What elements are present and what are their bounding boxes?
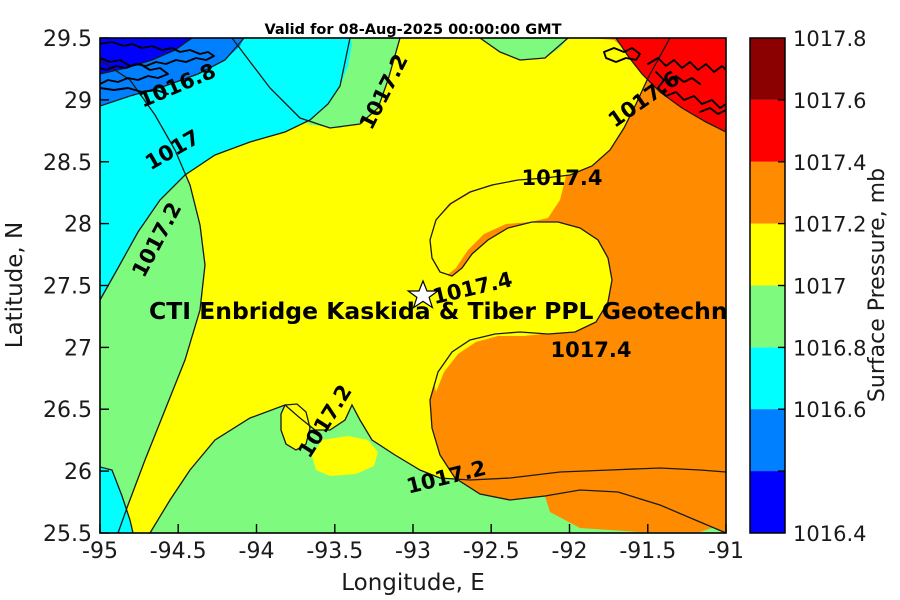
y-tick-label: 29.5 [43, 27, 92, 52]
colorbar-band-1017.4-1017.6 [750, 100, 785, 162]
x-tick-label: -93.5 [306, 539, 363, 564]
x-tick-label: -93 [395, 539, 431, 564]
x-tick-label: -92.5 [463, 539, 520, 564]
y-tick-label: 28.5 [43, 151, 92, 176]
y-tick-label: 27 [64, 336, 92, 361]
colorbar-tick-label: 1017.4 [793, 151, 866, 175]
figure-root: Valid for 08-Aug-2025 00:00:00 GMT [0, 0, 900, 600]
y-tick-label: 26 [64, 460, 92, 485]
x-tick-label: -91.5 [619, 539, 676, 564]
colorbar-tick-label: 1016.6 [793, 398, 866, 422]
plot-title: Valid for 08-Aug-2025 00:00:00 GMT [265, 22, 562, 38]
colorbar-tick-label: 1017.6 [793, 89, 866, 113]
y-tick-label: 27.5 [43, 275, 92, 300]
colorbar-band-1016.6-1016.8 [750, 347, 785, 409]
x-axis-label: Longitude, E [341, 570, 485, 596]
station-label: CTI Enbridge Kaskida & Tiber PPL Geotech… [149, 297, 774, 325]
colorbar-band-1016.4-1016.6 [750, 409, 785, 471]
x-tick-label: -91 [708, 539, 744, 564]
colorbar-tick-label: 1017.2 [793, 213, 866, 237]
contour-label: 1017.4 [550, 338, 631, 362]
colorbar-label: Surface Pressure, mb [865, 168, 890, 402]
contour-label: 1017.4 [521, 166, 602, 190]
x-tick-label: -94 [239, 539, 275, 564]
y-axis-label: Latitude, N [2, 222, 28, 349]
colorbar-tick-label: 1017.8 [793, 27, 866, 51]
x-tick-label: -94.5 [150, 539, 207, 564]
colorbar-band-1017.0-1017.2 [750, 224, 785, 286]
y-tick-label: 29 [64, 89, 92, 114]
y-tick-label: 25.5 [43, 522, 92, 547]
colorbar-tick-label: 1017 [793, 275, 846, 299]
colorbar-band-1016.8-1017.0 [750, 286, 785, 348]
colorbar-band-1017.6-1017.8 [750, 38, 785, 100]
contour-map[interactable]: 1016.8 1017 1017.2 1017.2 1017.6 1017.4 … [100, 38, 774, 533]
colorbar-band-min [750, 471, 785, 533]
colorbar-tick-label: 1016.4 [793, 522, 866, 546]
y-tick-label: 28 [64, 213, 92, 238]
colorbar-tick-label: 1016.8 [793, 336, 866, 360]
y-tick-label: 26.5 [43, 398, 92, 423]
colorbar-band-1017.2-1017.4 [750, 162, 785, 224]
x-tick-label: -92 [552, 539, 588, 564]
